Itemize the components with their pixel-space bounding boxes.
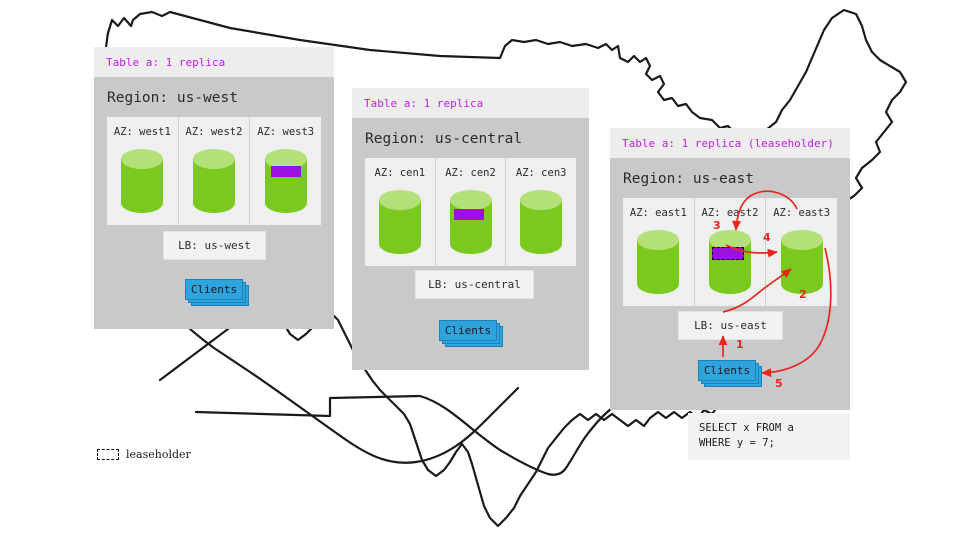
az-label: AZ: cen2 bbox=[445, 167, 496, 179]
az-cen1[interactable]: AZ: cen1 bbox=[365, 158, 436, 266]
arrow-number-2: 2 bbox=[799, 288, 807, 301]
leaseholder-swatch-icon bbox=[97, 449, 119, 460]
legend-leaseholder: leaseholder bbox=[97, 448, 191, 461]
clients-us-central[interactable]: Clients bbox=[439, 320, 501, 344]
region-card-us-central: Table a: 1 replica Region: us-central AZ… bbox=[352, 88, 589, 370]
load-balancer-us-central[interactable]: LB: us-central bbox=[415, 270, 534, 299]
clients-label: Clients bbox=[439, 320, 497, 341]
diagram-canvas: Table a: 1 replica Region: us-west AZ: w… bbox=[0, 0, 960, 540]
load-balancer-us-east[interactable]: LB: us-east bbox=[678, 311, 783, 340]
database-cylinder-icon bbox=[263, 147, 309, 215]
az-label: AZ: east1 bbox=[630, 207, 687, 219]
az-east2[interactable]: AZ: east2 bbox=[695, 198, 767, 306]
az-west3[interactable]: AZ: west3 bbox=[250, 117, 321, 225]
clients-label: Clients bbox=[698, 360, 756, 381]
replica-band-west3 bbox=[271, 166, 301, 177]
region-title-us-east: Region: us-east bbox=[610, 158, 850, 198]
clients-us-east[interactable]: Clients bbox=[698, 360, 760, 384]
arrow-number-4: 4 bbox=[763, 231, 771, 244]
az-label: AZ: west2 bbox=[186, 126, 243, 138]
database-cylinder-icon bbox=[779, 228, 825, 296]
az-label: AZ: east3 bbox=[773, 207, 830, 219]
region-card-us-west: Table a: 1 replica Region: us-west AZ: w… bbox=[94, 47, 334, 329]
az-east1[interactable]: AZ: east1 bbox=[623, 198, 695, 306]
region-header-us-central: Table a: 1 replica bbox=[352, 88, 589, 118]
database-cylinder-icon bbox=[191, 147, 237, 215]
az-west2[interactable]: AZ: west2 bbox=[179, 117, 251, 225]
database-cylinder-icon bbox=[518, 188, 564, 256]
az-label: AZ: west3 bbox=[257, 126, 314, 138]
region-header-us-west: Table a: 1 replica bbox=[94, 47, 334, 77]
legend-label: leaseholder bbox=[126, 448, 191, 461]
az-row-us-west: AZ: west1 AZ: west2 AZ: bbox=[107, 117, 321, 225]
region-card-us-east: Table a: 1 replica (leaseholder) Region:… bbox=[610, 128, 850, 410]
arrow-number-3: 3 bbox=[713, 219, 721, 232]
region-title-us-west: Region: us-west bbox=[94, 77, 334, 117]
region-header-us-east: Table a: 1 replica (leaseholder) bbox=[610, 128, 850, 158]
replica-band-cen2 bbox=[454, 209, 484, 220]
database-cylinder-icon bbox=[448, 188, 494, 256]
az-label: AZ: cen3 bbox=[516, 167, 567, 179]
az-label: AZ: east2 bbox=[702, 207, 759, 219]
sql-query-box: SELECT x FROM a WHERE y = 7; bbox=[688, 413, 850, 460]
az-label: AZ: cen1 bbox=[375, 167, 426, 179]
clients-us-west[interactable]: Clients bbox=[185, 279, 247, 303]
database-cylinder-icon bbox=[377, 188, 423, 256]
az-cen2[interactable]: AZ: cen2 bbox=[436, 158, 507, 266]
az-west1[interactable]: AZ: west1 bbox=[107, 117, 179, 225]
database-cylinder-icon bbox=[707, 228, 753, 296]
region-title-us-central: Region: us-central bbox=[352, 118, 589, 158]
load-balancer-us-west[interactable]: LB: us-west bbox=[163, 231, 266, 260]
leaseholder-band-east2 bbox=[712, 247, 744, 260]
database-cylinder-icon bbox=[635, 228, 681, 296]
az-label: AZ: west1 bbox=[114, 126, 171, 138]
az-cen3[interactable]: AZ: cen3 bbox=[506, 158, 576, 266]
arrow-number-5: 5 bbox=[775, 377, 783, 390]
clients-label: Clients bbox=[185, 279, 243, 300]
database-cylinder-icon bbox=[119, 147, 165, 215]
arrow-number-1: 1 bbox=[736, 338, 744, 351]
az-row-us-central: AZ: cen1 AZ: cen2 bbox=[365, 158, 576, 266]
